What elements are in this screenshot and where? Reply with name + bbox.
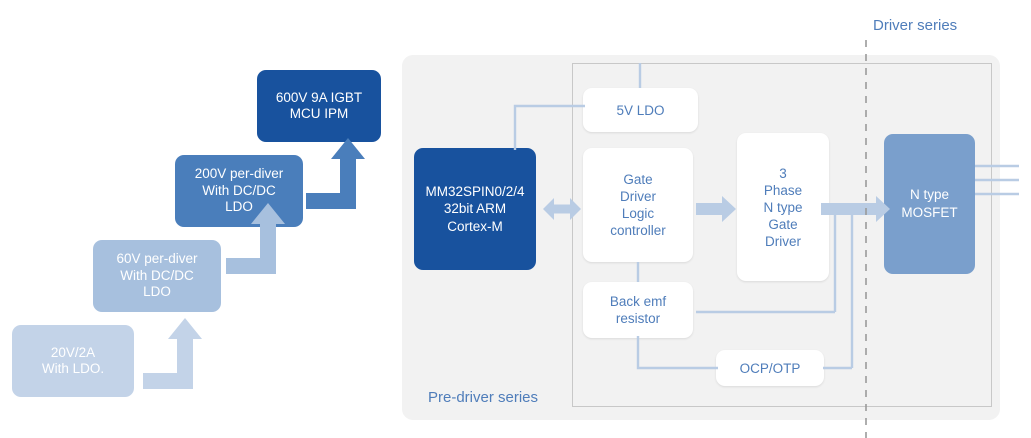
ladder-box-600v-label: 600V 9A IGBT MCU IPM [276, 90, 362, 123]
block-n-type-mosfet[interactable]: N type MOSFET [884, 134, 975, 274]
block-three-phase-gate-driver-label: 3 Phase N type Gate Driver [763, 165, 802, 250]
ladder-box-20v-label: 20V/2A With LDO. [42, 345, 104, 378]
ladder-box-60v[interactable]: 60V per-diver With DC/DC LDO [93, 240, 221, 312]
block-mcu-label: MM32SPIN0/2/4 32bit ARM Cortex-M [425, 183, 524, 236]
ladder-box-200v[interactable]: 200V per-diver With DC/DC LDO [175, 155, 303, 227]
caption-pre-driver-series: Pre-driver series [428, 389, 538, 406]
block-gate-driver-logic-label: Gate Driver Logic controller [610, 171, 666, 239]
staircase-arrow-1 [143, 318, 202, 389]
block-mcu[interactable]: MM32SPIN0/2/4 32bit ARM Cortex-M [414, 148, 536, 270]
block-ocp-otp[interactable]: OCP/OTP [716, 350, 824, 386]
block-three-phase-gate-driver[interactable]: 3 Phase N type Gate Driver [737, 133, 829, 281]
caption-driver-series: Driver series [873, 17, 957, 34]
ladder-box-60v-label: 60V per-diver With DC/DC LDO [116, 251, 197, 300]
block-back-emf-resistor-label: Back emf resistor [610, 293, 666, 327]
block-back-emf-resistor[interactable]: Back emf resistor [583, 282, 693, 338]
block-ocp-otp-label: OCP/OTP [740, 360, 801, 377]
diagram-canvas: 20V/2A With LDO. 60V per-diver With DC/D… [0, 0, 1031, 438]
ladder-box-200v-label: 200V per-diver With DC/DC LDO [195, 166, 284, 215]
ladder-box-600v[interactable]: 600V 9A IGBT MCU IPM [257, 70, 381, 142]
block-gate-driver-logic[interactable]: Gate Driver Logic controller [583, 148, 693, 262]
ladder-box-20v[interactable]: 20V/2A With LDO. [12, 325, 134, 397]
block-5v-ldo-label: 5V LDO [616, 102, 664, 119]
block-5v-ldo[interactable]: 5V LDO [583, 88, 698, 132]
block-n-type-mosfet-label: N type MOSFET [901, 186, 957, 221]
staircase-arrow-3 [306, 138, 365, 209]
